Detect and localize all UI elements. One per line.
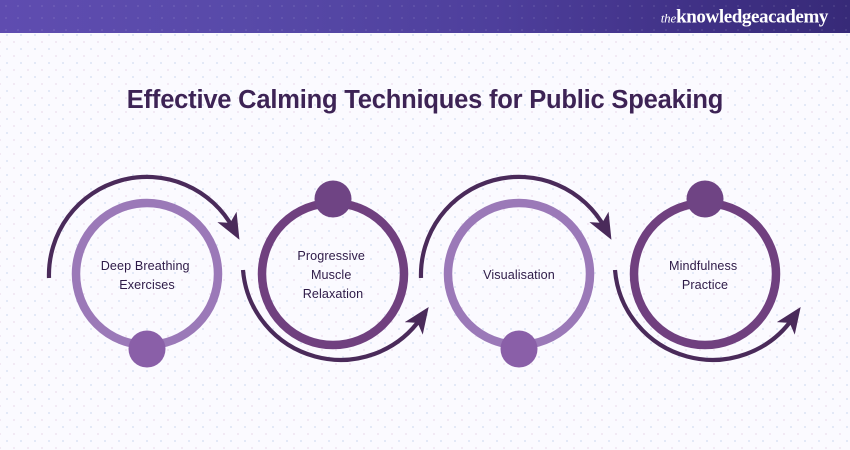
diagram-svg: Deep Breathing Exercises Progressive Mus… <box>0 150 850 400</box>
node-4-label: Mindfulness Practice <box>669 259 741 292</box>
brand-prefix-text: the <box>661 10 676 25</box>
node-1-label: Deep Breathing Exercises <box>101 259 194 292</box>
brand-name-text: knowledgeacademy <box>676 6 828 27</box>
node-4-label-line-2: Practice <box>682 278 728 292</box>
node-1-label-line-1: Deep Breathing <box>101 259 190 273</box>
node-2-label-line-1: Progressive <box>297 249 365 263</box>
node-2-accent-dot <box>315 181 352 218</box>
brand-logo: theknowledgeacademy <box>661 7 828 26</box>
header-bar: theknowledgeacademy <box>0 0 850 33</box>
node-2-label-line-2: Muscle <box>311 268 352 282</box>
node-1-group[interactable]: Deep Breathing Exercises <box>49 177 233 368</box>
infographic-page: theknowledgeacademy Effective Calming Te… <box>0 0 850 450</box>
node-1-ring <box>76 203 218 345</box>
node-3-label: Visualisation <box>483 268 555 282</box>
node-4-accent-dot <box>687 181 724 218</box>
node-3-accent-dot <box>501 331 538 368</box>
node-4-group[interactable]: Mindfulness Practice <box>615 181 793 360</box>
node-1-accent-dot <box>129 331 166 368</box>
node-2-label: Progressive Muscle Relaxation <box>297 249 368 301</box>
node-2-group[interactable]: Progressive Muscle Relaxation <box>243 181 421 360</box>
node-4-ring <box>634 203 776 345</box>
node-1-label-line-2: Exercises <box>119 278 175 292</box>
node-3-group[interactable]: Visualisation <box>421 177 605 368</box>
cycle-diagram: Deep Breathing Exercises Progressive Mus… <box>0 150 850 400</box>
node-3-label-line-1: Visualisation <box>483 268 555 282</box>
page-title: Effective Calming Techniques for Public … <box>0 85 850 116</box>
node-4-label-line-1: Mindfulness <box>669 259 737 273</box>
node-2-label-line-3: Relaxation <box>303 287 364 301</box>
